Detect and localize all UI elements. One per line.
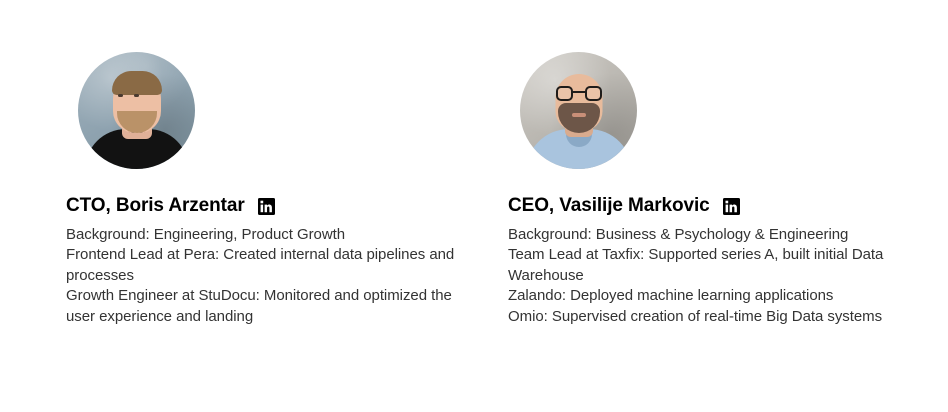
- avatar-lens-left: [556, 86, 573, 101]
- profile-heading-row: CEO, Vasilije Markovic: [508, 195, 908, 217]
- avatar-boris-arzentar: [78, 52, 195, 169]
- bio-line: Background: Engineering, Product Growth: [66, 225, 466, 245]
- profile-text-vasilije: CEO, Vasilije Markovic Background: Busin…: [508, 195, 908, 327]
- avatar-image: [78, 52, 195, 169]
- avatar-mouth: [572, 113, 586, 117]
- profile-name-vasilije: CEO, Vasilije Markovic: [508, 195, 710, 217]
- avatar-image: [520, 52, 637, 169]
- avatar-lens-right: [585, 86, 602, 101]
- bio-line: Frontend Lead at Pera: Created internal …: [66, 245, 466, 286]
- linkedin-icon[interactable]: [258, 198, 275, 215]
- avatar-eye-left: [118, 94, 123, 97]
- avatar-vasilije-markovic: [520, 52, 637, 169]
- bio-line: Team Lead at Taxfix: Supported series A,…: [508, 245, 908, 286]
- profile-heading-row: CTO, Boris Arzentar: [66, 195, 466, 217]
- team-profiles-section: CTO, Boris Arzentar Background: Engineer…: [0, 0, 948, 412]
- avatar-hair: [112, 71, 162, 95]
- bio-line: Background: Business & Psychology & Engi…: [508, 225, 908, 245]
- bio-line: Omio: Supervised creation of real-time B…: [508, 307, 908, 327]
- profile-bio-vasilije: Background: Business & Psychology & Engi…: [508, 225, 908, 327]
- profile-name-boris: CTO, Boris Arzentar: [66, 195, 245, 217]
- avatar-glasses-bridge: [573, 91, 585, 93]
- bio-line: Growth Engineer at StuDocu: Monitored an…: [66, 286, 466, 327]
- bio-line: Zalando: Deployed machine learning appli…: [508, 286, 908, 306]
- profile-text-boris: CTO, Boris Arzentar Background: Engineer…: [66, 195, 466, 327]
- avatar-glasses: [556, 86, 602, 101]
- linkedin-icon[interactable]: [723, 198, 740, 215]
- avatar-eye-right: [134, 94, 139, 97]
- profile-bio-boris: Background: Engineering, Product Growth …: [66, 225, 466, 327]
